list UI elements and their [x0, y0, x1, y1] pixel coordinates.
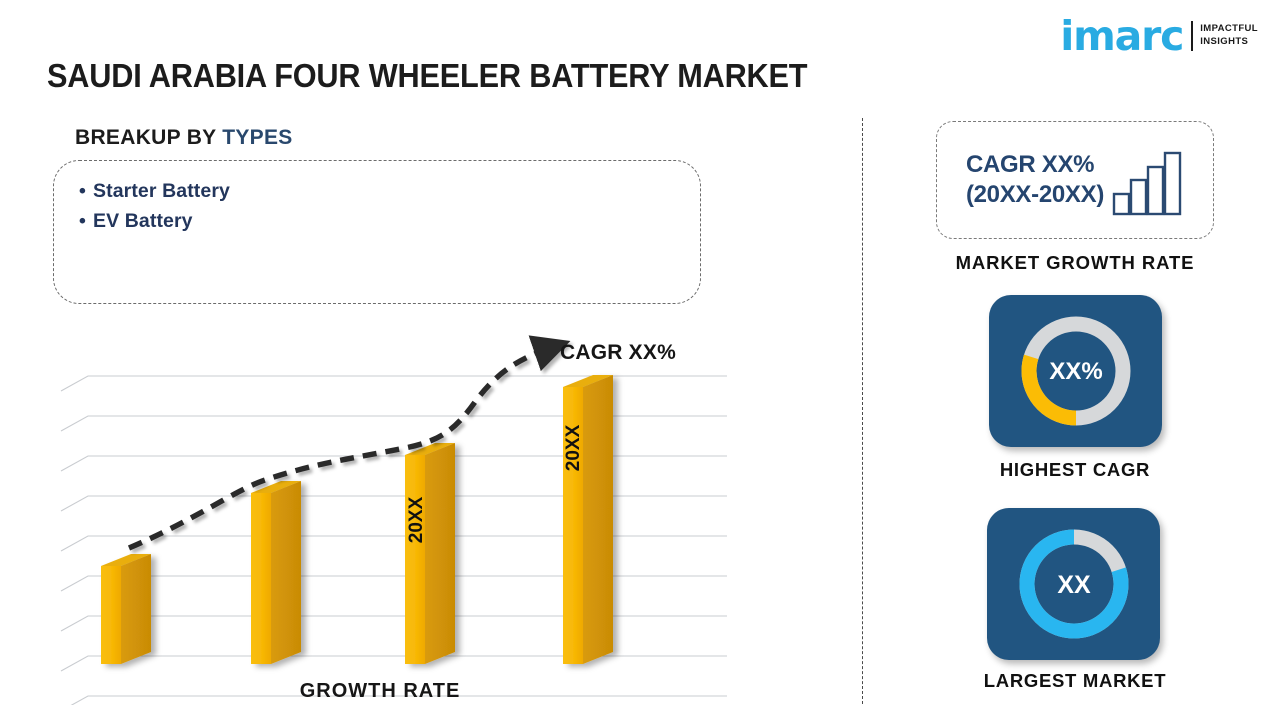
breakup-heading-prefix: BREAKUP BY [75, 126, 222, 149]
trend-line [129, 348, 550, 548]
logo-tagline: IMPACTFUL INSIGHTS [1200, 23, 1258, 48]
donut-value: XX% [1049, 358, 1102, 385]
list-item: •EV Battery [79, 206, 700, 236]
logo-tagline-line2: INSIGHTS [1200, 36, 1248, 47]
imarc-logo: imarc IMPACTFUL INSIGHTS [1060, 14, 1258, 58]
market-growth-rate-label: MARKET GROWTH RATE [880, 252, 1270, 274]
type-label: EV Battery [93, 210, 193, 232]
bar-front-face [251, 493, 271, 664]
list-item: •Starter Battery [79, 176, 700, 206]
bar-chart-icon [1112, 150, 1184, 216]
vertical-divider [862, 118, 863, 704]
chart-gridlines [61, 376, 727, 705]
cagr-trend-label: CAGR XX% [560, 341, 676, 365]
bar-chart-svg: 20XX 20XX [55, 330, 755, 705]
bar-side-face [121, 554, 151, 664]
bar-value-label: 20XX [406, 496, 427, 543]
page-title: SAUDI ARABIA FOUR WHEELER BATTERY MARKET [47, 57, 807, 95]
cagr-line-1: CAGR XX% [966, 150, 1104, 180]
infographic-page: imarc IMPACTFUL INSIGHTS SAUDI ARABIA FO… [0, 0, 1280, 720]
bar-side-face [271, 481, 301, 664]
logo-tagline-line1: IMPACTFUL [1200, 23, 1258, 34]
cagr-line-2: (20XX-20XX) [966, 180, 1104, 210]
largest-market-card: XX [987, 508, 1160, 660]
largest-market-donut: XX [1009, 519, 1139, 649]
chart-axis-title: GROWTH RATE [0, 680, 760, 703]
bar-front-face [405, 455, 425, 664]
bullet-icon: • [79, 206, 93, 236]
bar-front-face [101, 566, 121, 664]
breakup-heading-accent: TYPES [222, 126, 292, 149]
logo-divider [1191, 21, 1193, 51]
bar-group-1 [101, 554, 151, 664]
bar-side-face [583, 375, 613, 664]
types-box: •Starter Battery •EV Battery [53, 160, 701, 304]
logo-wordmark: imarc [1060, 16, 1187, 57]
bullet-icon: • [79, 176, 93, 206]
bar-group-3 [405, 443, 455, 664]
growth-rate-bar-chart: 20XX 20XX [55, 330, 755, 705]
types-list: •Starter Battery •EV Battery [54, 161, 700, 236]
bar-value-label: 20XX [563, 424, 584, 471]
donut-value: XX [1057, 571, 1091, 599]
highest-cagr-caption: HIGHEST CAGR [880, 459, 1270, 481]
bar-group-2 [251, 481, 301, 664]
cagr-callout-text: CAGR XX% (20XX-20XX) [966, 150, 1104, 210]
highest-cagr-card: XX% [989, 295, 1162, 447]
bar-group-4 [563, 375, 613, 664]
type-label: Starter Battery [93, 180, 230, 202]
highest-cagr-donut: XX% [1011, 306, 1141, 436]
bar-side-face [425, 443, 455, 664]
breakup-heading: BREAKUP BY TYPES [75, 126, 293, 150]
largest-market-caption: LARGEST MARKET [880, 670, 1270, 692]
cagr-callout-box: CAGR XX% (20XX-20XX) [936, 121, 1214, 239]
